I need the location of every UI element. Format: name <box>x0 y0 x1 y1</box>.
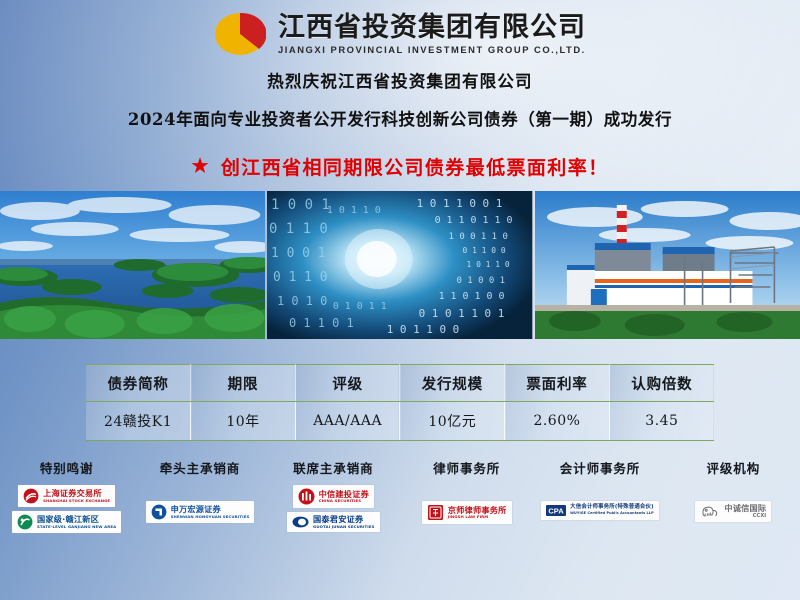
logo-name-cn: 中诚信国际 <box>724 504 766 512</box>
svg-text:1 0 0 1: 1 0 0 1 <box>271 246 326 261</box>
partner-label: 联席主承销商 <box>293 458 373 477</box>
shanghai-stock-exchange-logo: 上海证券交易所 SHANGHAI STOCK EXCHANGE <box>18 485 115 507</box>
table-row: 24赣投K1 10年 AAA/AAA 10亿元 2.60% 3.45 <box>86 402 714 441</box>
partner-label: 会计师事务所 <box>560 458 640 477</box>
china-securities-mark-icon <box>298 488 315 505</box>
bond-table: 债券简称 期限 评级 发行规模 票面利率 认购倍数 24赣投K1 10年 AAA… <box>86 364 714 441</box>
svg-text:1 0 1 1 0: 1 0 1 1 0 <box>327 205 381 216</box>
partner-group-joint-underwriters: 联席主承销商 中信建投证券 CHINA SECURITIES <box>267 458 400 558</box>
svg-text:1 0 1 1 0 0: 1 0 1 1 0 0 <box>387 323 460 336</box>
logo-name-en: SHENWAN HONGYUAN SECURITIES <box>171 515 250 519</box>
partner-label: 律师事务所 <box>433 458 500 477</box>
svg-text:1 1 0 1 0 0: 1 1 0 1 0 0 <box>439 291 505 302</box>
partner-group-lead-underwriter: 牵头主承销商 申万宏源证券 SHENWAN HONGYUAN SECURITIE… <box>133 458 266 558</box>
jingsh-law-firm-logo: 京师律师事务所 JINGSH LAW FIRM <box>422 501 512 524</box>
svg-text:0 1 1 0 1 1 0: 0 1 1 0 1 1 0 <box>435 215 513 226</box>
svg-text:0 1 0 0 1: 0 1 0 0 1 <box>457 276 506 286</box>
partner-label: 评级机构 <box>707 458 761 477</box>
svg-text:1 0 0 1 1 0: 1 0 0 1 1 0 <box>449 232 508 242</box>
wuyige-mark-icon: CPA <box>546 504 566 517</box>
lake-islands-landscape-photo <box>0 191 265 339</box>
svg-text:0 1 0 1 1 0 1: 0 1 0 1 1 0 1 <box>419 307 505 320</box>
partner-group-rating-agency: 评级机构 中诚信国际 CCXI <box>667 458 800 558</box>
bond-table-wrap: 债券简称 期限 评级 发行规模 票面利率 认购倍数 24赣投K1 10年 AAA… <box>86 364 714 441</box>
svg-text:1 0 0 1: 1 0 0 1 <box>271 197 330 213</box>
cell-subscription-multiple: 3.45 <box>609 402 714 441</box>
ccxi-elephant-mark-icon <box>700 504 720 519</box>
svg-text:0 1 1 0: 0 1 1 0 <box>269 221 328 237</box>
logo-name-en: CHINA SECURITIES <box>319 499 369 503</box>
brand-header: 江西省投资集团有限公司 JIANGXI PROVINCIAL INVESTMEN… <box>0 0 800 56</box>
partner-label: 特别鸣谢 <box>40 458 94 477</box>
column-header-rating: 评级 <box>295 365 400 402</box>
column-header-tenor: 期限 <box>191 365 296 402</box>
headline-highlight: ★ 创江西省相同期限公司债券最低票面利率！ <box>0 153 800 180</box>
wuyige-cpa-logo: CPA 大信会计师事务所(特殊普通合伙) WUYIGE Certified Pu… <box>541 501 659 520</box>
svg-text:1 0 1 1 0: 1 0 1 1 0 <box>467 260 510 269</box>
logo-name-cn: 申万宏源证券 <box>171 505 250 513</box>
partner-group-acknowledgement: 特别鸣谢 上海证券交易所 SHANGHAI STOCK EXCHANGE <box>0 458 133 558</box>
logo-name-cn: 中信建投证券 <box>319 490 369 498</box>
binary-code-tunnel-photo: 1 0 1 1 0 0 1 0 1 1 0 1 1 0 1 0 0 1 1 0 … <box>267 191 532 339</box>
logo-name-en: SHANGHAI STOCK EXCHANGE <box>43 499 110 503</box>
table-header-row: 债券简称 期限 评级 发行规模 票面利率 认购倍数 <box>86 365 714 402</box>
logo-name-cn: 国泰君安证券 <box>313 515 375 523</box>
ganjiang-mark-icon <box>17 514 33 530</box>
brand-name-en: JIANGXI PROVINCIAL INVESTMENT GROUP CO.,… <box>278 45 586 54</box>
svg-text:CPA: CPA <box>549 506 565 515</box>
brand-name-cn: 江西省投资集团有限公司 <box>278 14 586 41</box>
column-header-subscription-multiple: 认购倍数 <box>609 365 714 402</box>
svg-text:0 1 0 1 1: 0 1 0 1 1 <box>333 301 387 312</box>
column-header-coupon: 票面利率 <box>505 365 610 402</box>
headline-line-1: 热烈庆祝江西省投资集团有限公司 <box>0 68 800 92</box>
ccxi-rating-logo: 中诚信国际 CCXI <box>695 501 771 522</box>
sse-mark-icon <box>23 488 39 504</box>
logo-name-en: JINGSH LAW FIRM <box>448 515 507 519</box>
cell-issue-size: 10亿元 <box>400 402 505 441</box>
svg-text:1 0 1 0: 1 0 1 0 <box>277 294 327 308</box>
logo-name-cn: 上海证券交易所 <box>43 489 110 497</box>
shenwan-hongyuan-securities-logo: 申万宏源证券 SHENWAN HONGYUAN SECURITIES <box>146 501 255 523</box>
headline-highlight-text: 创江西省相同期限公司债券最低票面利率！ <box>221 153 609 180</box>
logo-name-en: STATE-LEVEL GANJIANG NEW AREA <box>37 525 116 529</box>
cell-bond-name: 24赣投K1 <box>86 402 191 441</box>
shenwan-mark-icon <box>151 504 167 520</box>
logo-name-cn: 大信会计师事务所(特殊普通合伙) <box>570 505 654 510</box>
column-header-bond-name: 债券简称 <box>86 365 191 402</box>
star-icon: ★ <box>191 157 209 176</box>
partner-label: 牵头主承销商 <box>160 458 240 477</box>
cell-rating: AAA/AAA <box>295 402 400 441</box>
cell-coupon: 2.60% <box>505 402 610 441</box>
jiangxi-investment-group-logo-icon <box>214 11 266 57</box>
svg-text:0 1 1 0 1: 0 1 1 0 1 <box>289 316 354 330</box>
cell-tenor: 10年 <box>191 402 296 441</box>
jingsh-seal-mark-icon <box>427 504 444 521</box>
svg-text:1 0 1 1 0 0 1: 1 0 1 1 0 0 1 <box>417 197 503 210</box>
photo-strip: 1 0 1 1 0 0 1 0 1 1 0 1 1 0 1 0 0 1 1 0 … <box>0 191 800 339</box>
partner-section: 特别鸣谢 上海证券交易所 SHANGHAI STOCK EXCHANGE <box>0 458 800 558</box>
poster-root: 江西省投资集团有限公司 JIANGXI PROVINCIAL INVESTMEN… <box>0 0 800 600</box>
partner-group-law-firm: 律师事务所 京师律师事务所 JINGSH LAW FIRM <box>400 458 533 558</box>
logo-name-en: GUOTAI JUNAN SECURITIES <box>313 525 375 529</box>
column-header-issue-size: 发行规模 <box>400 365 505 402</box>
power-plant-substation-photo <box>535 191 800 339</box>
svg-text:0 1 1 0 0: 0 1 1 0 0 <box>463 246 506 255</box>
logo-name-en: WUYIGE Certified Public Accountants LLP <box>570 512 654 515</box>
china-securities-logo: 中信建投证券 CHINA SECURITIES <box>293 485 374 508</box>
headline-line-2: 2024年面向专业投资者公开发行科技创新公司债券（第一期）成功发行 <box>0 106 800 130</box>
logo-name-cn: 京师律师事务所 <box>448 506 507 514</box>
logo-name-en: CCXI <box>724 514 766 519</box>
svg-text:0 1 1 0: 0 1 1 0 <box>273 270 328 285</box>
guotai-junan-mark-icon <box>292 516 309 528</box>
guotai-junan-securities-logo: 国泰君安证券 GUOTAI JUNAN SECURITIES <box>287 512 380 532</box>
ganjiang-new-area-logo: 国家级·赣江新区 STATE-LEVEL GANJIANG NEW AREA <box>12 511 121 533</box>
brand-text: 江西省投资集团有限公司 JIANGXI PROVINCIAL INVESTMEN… <box>278 14 586 54</box>
partner-group-accounting-firm: 会计师事务所 CPA 大信会计师事务所(特殊普通合伙) WUYIGE Certi… <box>533 458 666 558</box>
headline-block: 热烈庆祝江西省投资集团有限公司 2024年面向专业投资者公开发行科技创新公司债券… <box>0 68 800 180</box>
logo-name-cn: 国家级·赣江新区 <box>37 515 116 523</box>
